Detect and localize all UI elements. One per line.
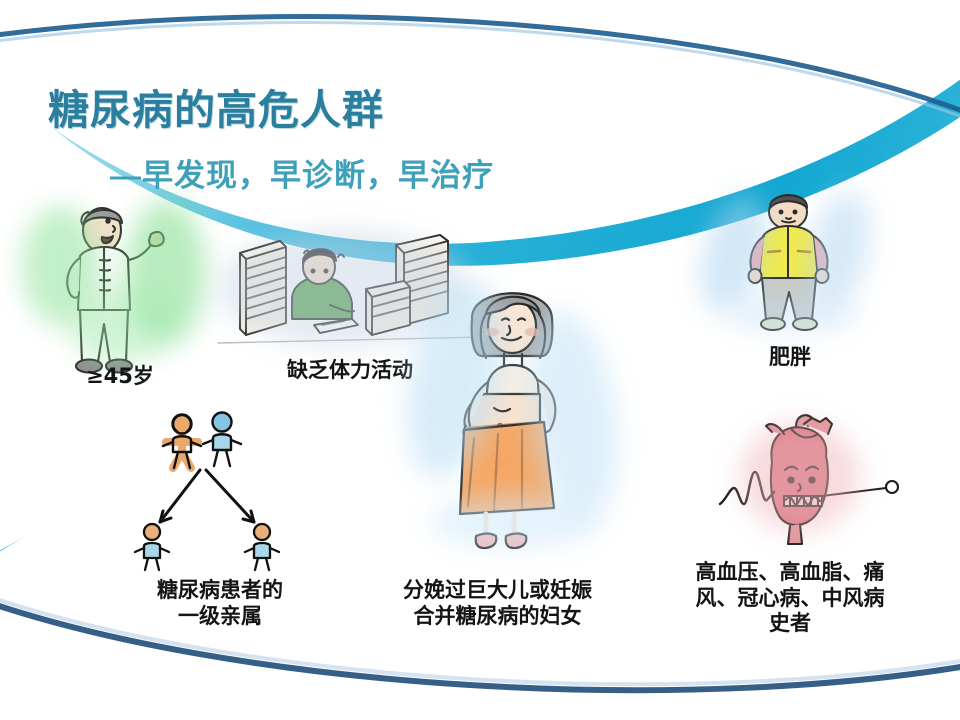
caption-obesity: 肥胖 xyxy=(720,345,860,371)
slide-title: 糖尿病的高危人群 xyxy=(48,76,384,136)
illustration-elderly-man xyxy=(18,190,218,380)
slide-subtitle: —早发现，早诊断，早治疗 xyxy=(110,150,494,195)
illustration-family-history xyxy=(130,400,320,568)
slide-canvas: ≥45岁 xyxy=(0,0,960,720)
illustration-cardiovascular xyxy=(700,400,920,555)
illustration-pregnant-woman xyxy=(410,270,620,560)
caption-gestational-diabetes: 分娩过巨大儿或妊娠 合并糖尿病的妇女 xyxy=(355,578,640,629)
caption-cardiovascular: 高血压、高血脂、痛 风、冠心病、中风病 史者 xyxy=(670,560,910,637)
illustration-obesity xyxy=(700,188,880,336)
caption-age: ≥45岁 xyxy=(30,364,210,390)
caption-family-history: 糖尿病患者的 一级亲属 xyxy=(105,578,335,629)
